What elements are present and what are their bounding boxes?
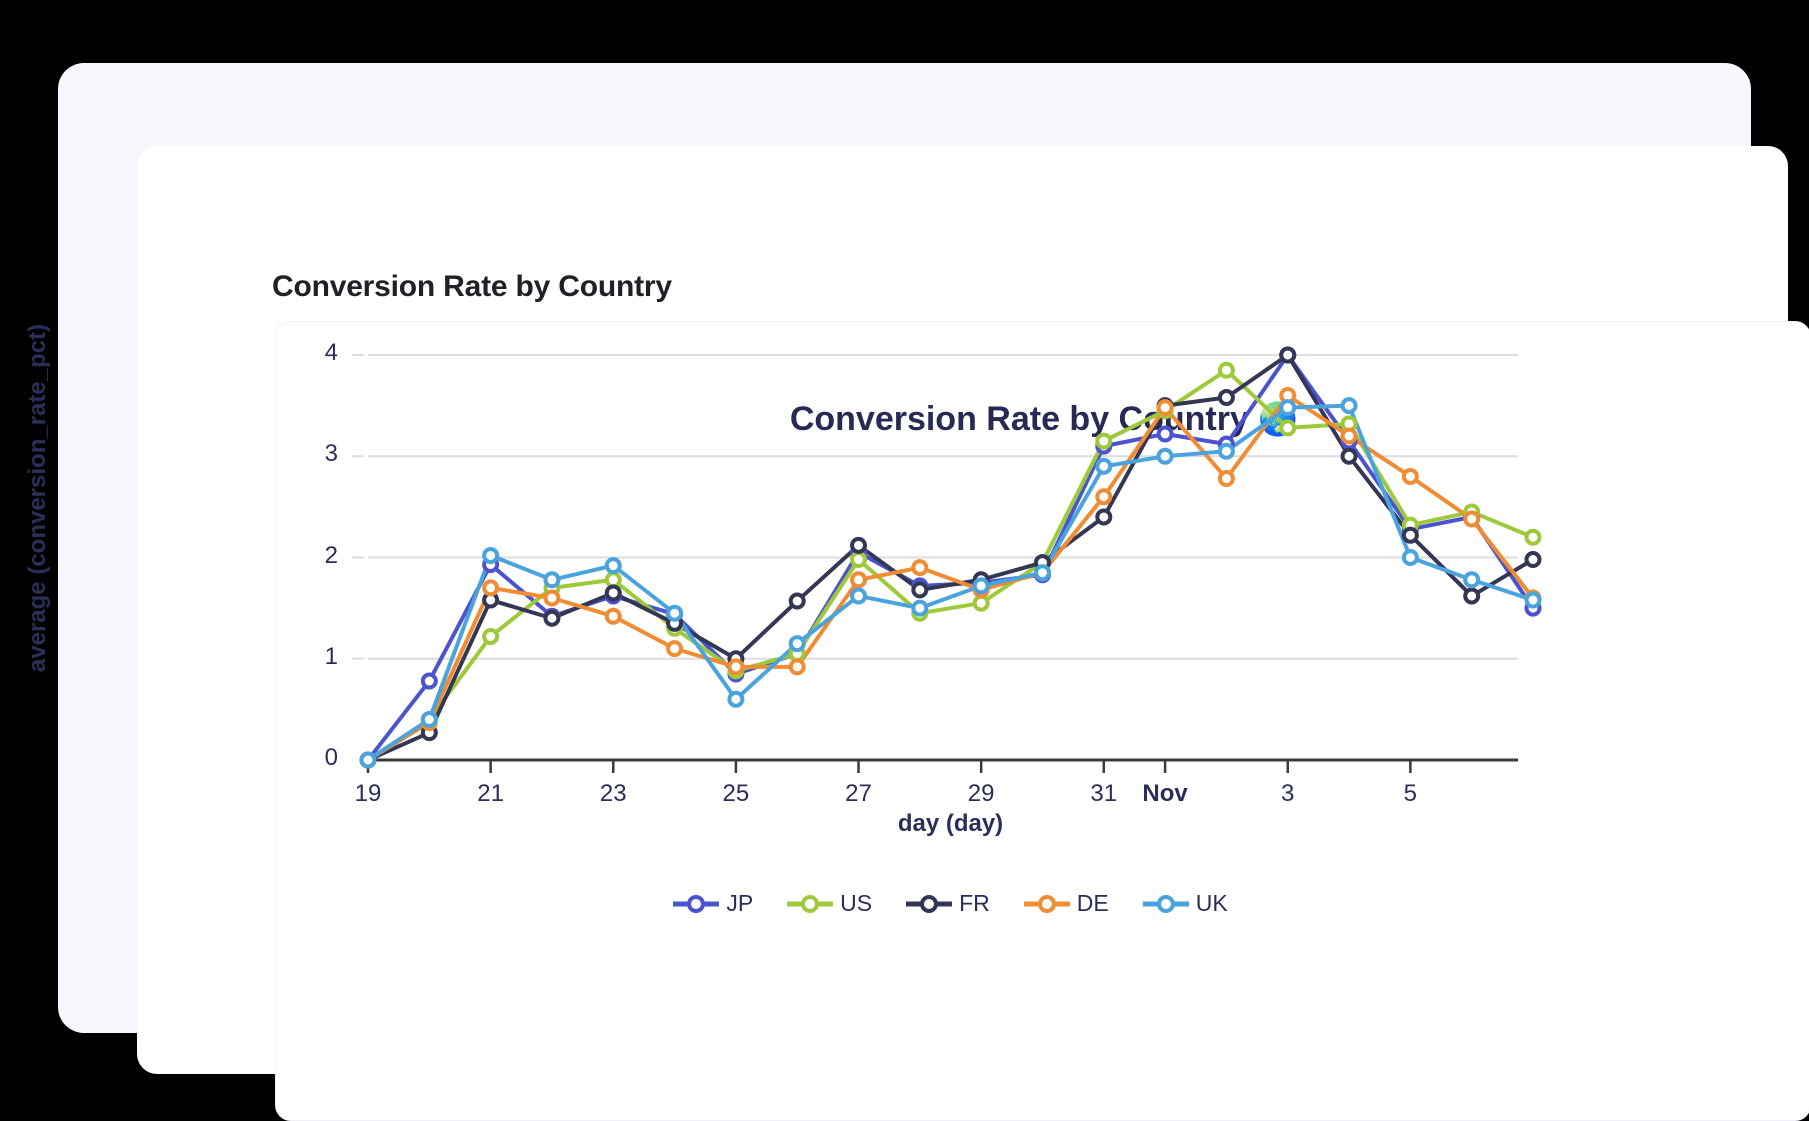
x-axis-tick-label: Nov	[1125, 780, 1205, 808]
legend-swatch-icon	[787, 891, 833, 917]
legend-item-fr[interactable]: FR	[906, 890, 990, 917]
x-axis-label: day (day)	[368, 810, 1533, 838]
y-axis-tick-label: 1	[298, 643, 338, 671]
legend-swatch-icon	[1143, 891, 1189, 917]
legend-label: DE	[1077, 890, 1109, 917]
legend-label: FR	[959, 890, 990, 917]
y-axis-tick-label: 2	[298, 542, 338, 570]
legend-item-jp[interactable]: JP	[673, 890, 753, 917]
y-axis-tick-label: 0	[298, 744, 338, 772]
x-axis-tick-label: 23	[573, 780, 653, 808]
x-axis-tick-label: 27	[819, 780, 899, 808]
x-axis-tick-label: 29	[941, 780, 1021, 808]
y-axis-tick-label: 4	[298, 339, 338, 367]
legend-item-uk[interactable]: UK	[1143, 890, 1228, 917]
x-axis-tick-label: 25	[696, 780, 776, 808]
chart-title-text: Conversion Rate by Country	[790, 400, 1249, 438]
page-title: Conversion Rate by Country	[272, 270, 672, 304]
chart-title: Conversion Rate by Country 🌏	[276, 400, 1809, 439]
x-axis-tick-label: 19	[328, 780, 408, 808]
x-axis-tick-label: 21	[451, 780, 531, 808]
chart-card: Conversion Rate by Country Conversion Ra…	[137, 146, 1788, 1074]
globe-icon: 🌏	[1258, 401, 1298, 437]
x-axis-tick-label: 5	[1370, 780, 1450, 808]
legend-label: JP	[726, 890, 753, 917]
x-axis-tick-label: 3	[1248, 780, 1328, 808]
legend-swatch-icon	[673, 891, 719, 917]
legend-item-de[interactable]: DE	[1024, 890, 1109, 917]
legend-label: UK	[1196, 890, 1228, 917]
y-axis-tick-label: 3	[298, 440, 338, 468]
y-axis-label: average (conversion_rate_pct)	[24, 198, 52, 798]
legend-label: US	[840, 890, 872, 917]
legend-swatch-icon	[1024, 891, 1070, 917]
chart-legend: JPUSFRDEUK	[368, 890, 1533, 917]
chart-container: Conversion Rate by Country 🌏	[275, 321, 1809, 1121]
legend-swatch-icon	[906, 891, 952, 917]
legend-item-us[interactable]: US	[787, 890, 872, 917]
